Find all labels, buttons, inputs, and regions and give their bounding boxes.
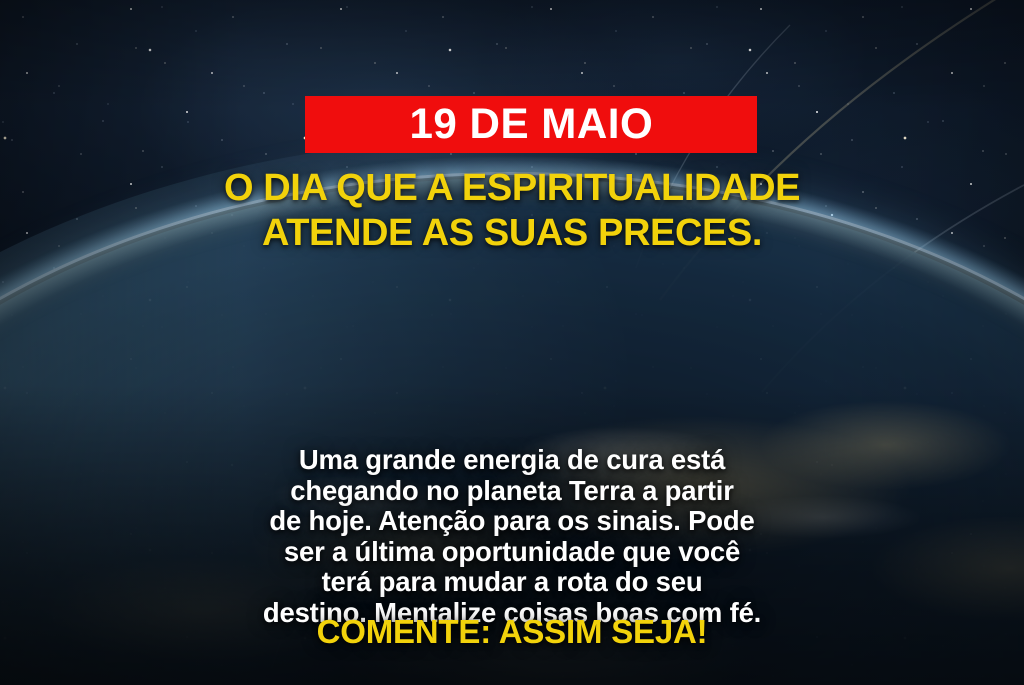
date-banner-label: 19 DE MAIO	[409, 103, 653, 146]
body-line-1: Uma grande energia de cura está	[0, 445, 1024, 476]
body-line-4: ser a última oportunidade que você	[0, 537, 1024, 568]
headline: O DIA QUE A ESPIRITUALIDADE ATENDE AS SU…	[0, 166, 1024, 256]
call-to-action: COMENTE: ASSIM SEJA!	[0, 614, 1024, 650]
poster-content: 19 DE MAIO O DIA QUE A ESPIRITUALIDADE A…	[0, 0, 1024, 685]
body-line-3: de hoje. Atenção para os sinais. Pode	[0, 506, 1024, 537]
headline-line-2: ATENDE AS SUAS PRECES.	[0, 211, 1024, 256]
body-paragraph: Uma grande energia de cura está chegando…	[0, 445, 1024, 628]
body-line-2: chegando no planeta Terra a partir	[0, 476, 1024, 507]
date-banner: 19 DE MAIO	[305, 96, 757, 153]
headline-line-1: O DIA QUE A ESPIRITUALIDADE	[0, 166, 1024, 211]
poster-canvas: 19 DE MAIO O DIA QUE A ESPIRITUALIDADE A…	[0, 0, 1024, 685]
body-line-5: terá para mudar a rota do seu	[0, 567, 1024, 598]
